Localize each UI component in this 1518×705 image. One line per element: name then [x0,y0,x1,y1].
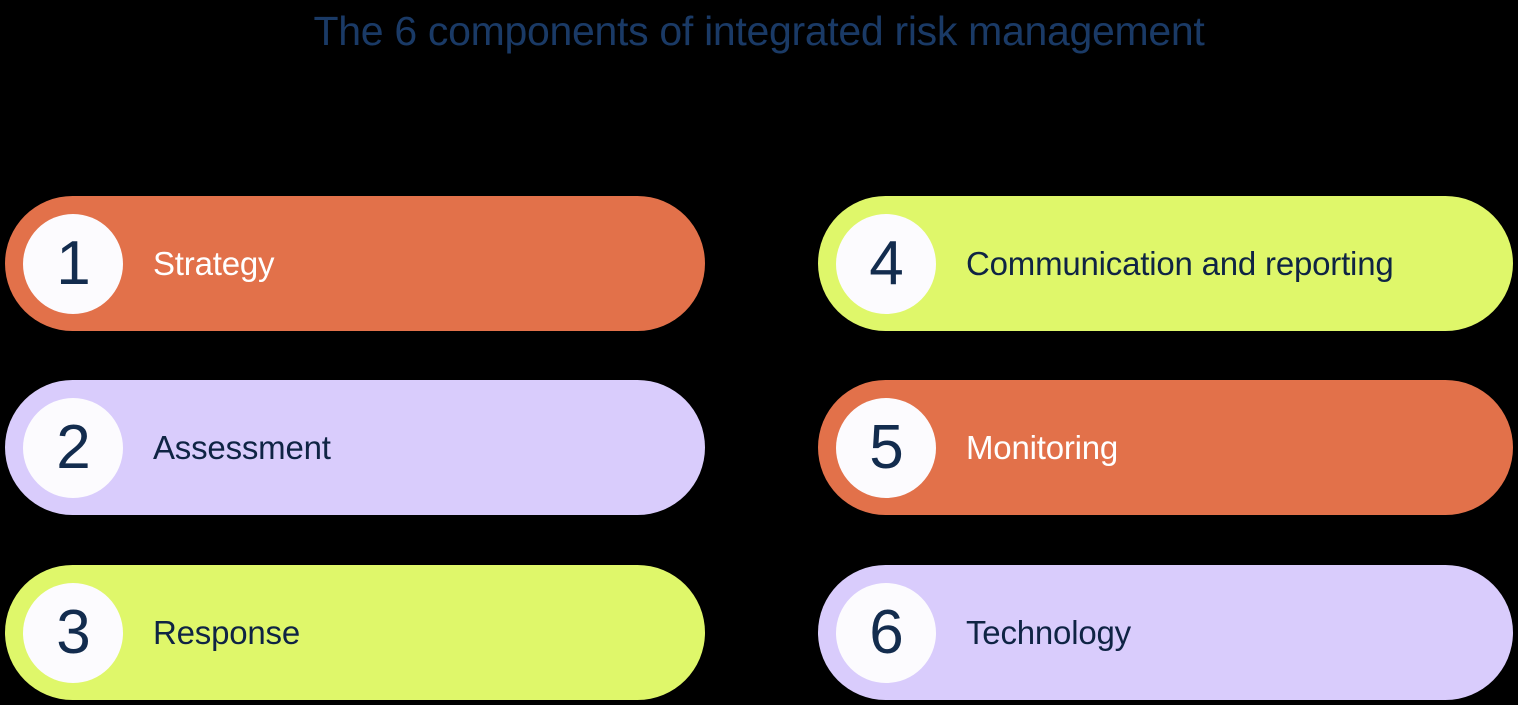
component-number-3: 3 [56,602,89,664]
component-label-3: Response [153,614,300,652]
component-number-badge-2: 2 [23,398,123,498]
component-label-5: Monitoring [966,429,1118,467]
component-pill-3[interactable]: 3 Response [5,565,705,700]
component-pill-5[interactable]: 5 Monitoring [818,380,1513,515]
component-number-badge-6: 6 [836,583,936,683]
component-pill-2[interactable]: 2 Assessment [5,380,705,515]
component-number-badge-1: 1 [23,214,123,314]
component-pill-1[interactable]: 1 Strategy [5,196,705,331]
component-number-badge-3: 3 [23,583,123,683]
component-label-1: Strategy [153,245,274,283]
component-number-badge-4: 4 [836,214,936,314]
component-number-2: 2 [56,417,89,479]
component-number-4: 4 [869,233,902,295]
component-pill-6[interactable]: 6 Technology [818,565,1513,700]
component-number-1: 1 [56,233,89,295]
page-title: The 6 components of integrated risk mana… [0,8,1518,55]
component-number-5: 5 [869,417,902,479]
component-label-2: Assessment [153,429,331,467]
component-number-badge-5: 5 [836,398,936,498]
component-number-6: 6 [869,602,902,664]
component-pill-4[interactable]: 4 Communication and reporting [818,196,1513,331]
component-label-4: Communication and reporting [966,245,1394,283]
component-label-6: Technology [966,614,1131,652]
infographic-canvas: The 6 components of integrated risk mana… [0,0,1518,705]
